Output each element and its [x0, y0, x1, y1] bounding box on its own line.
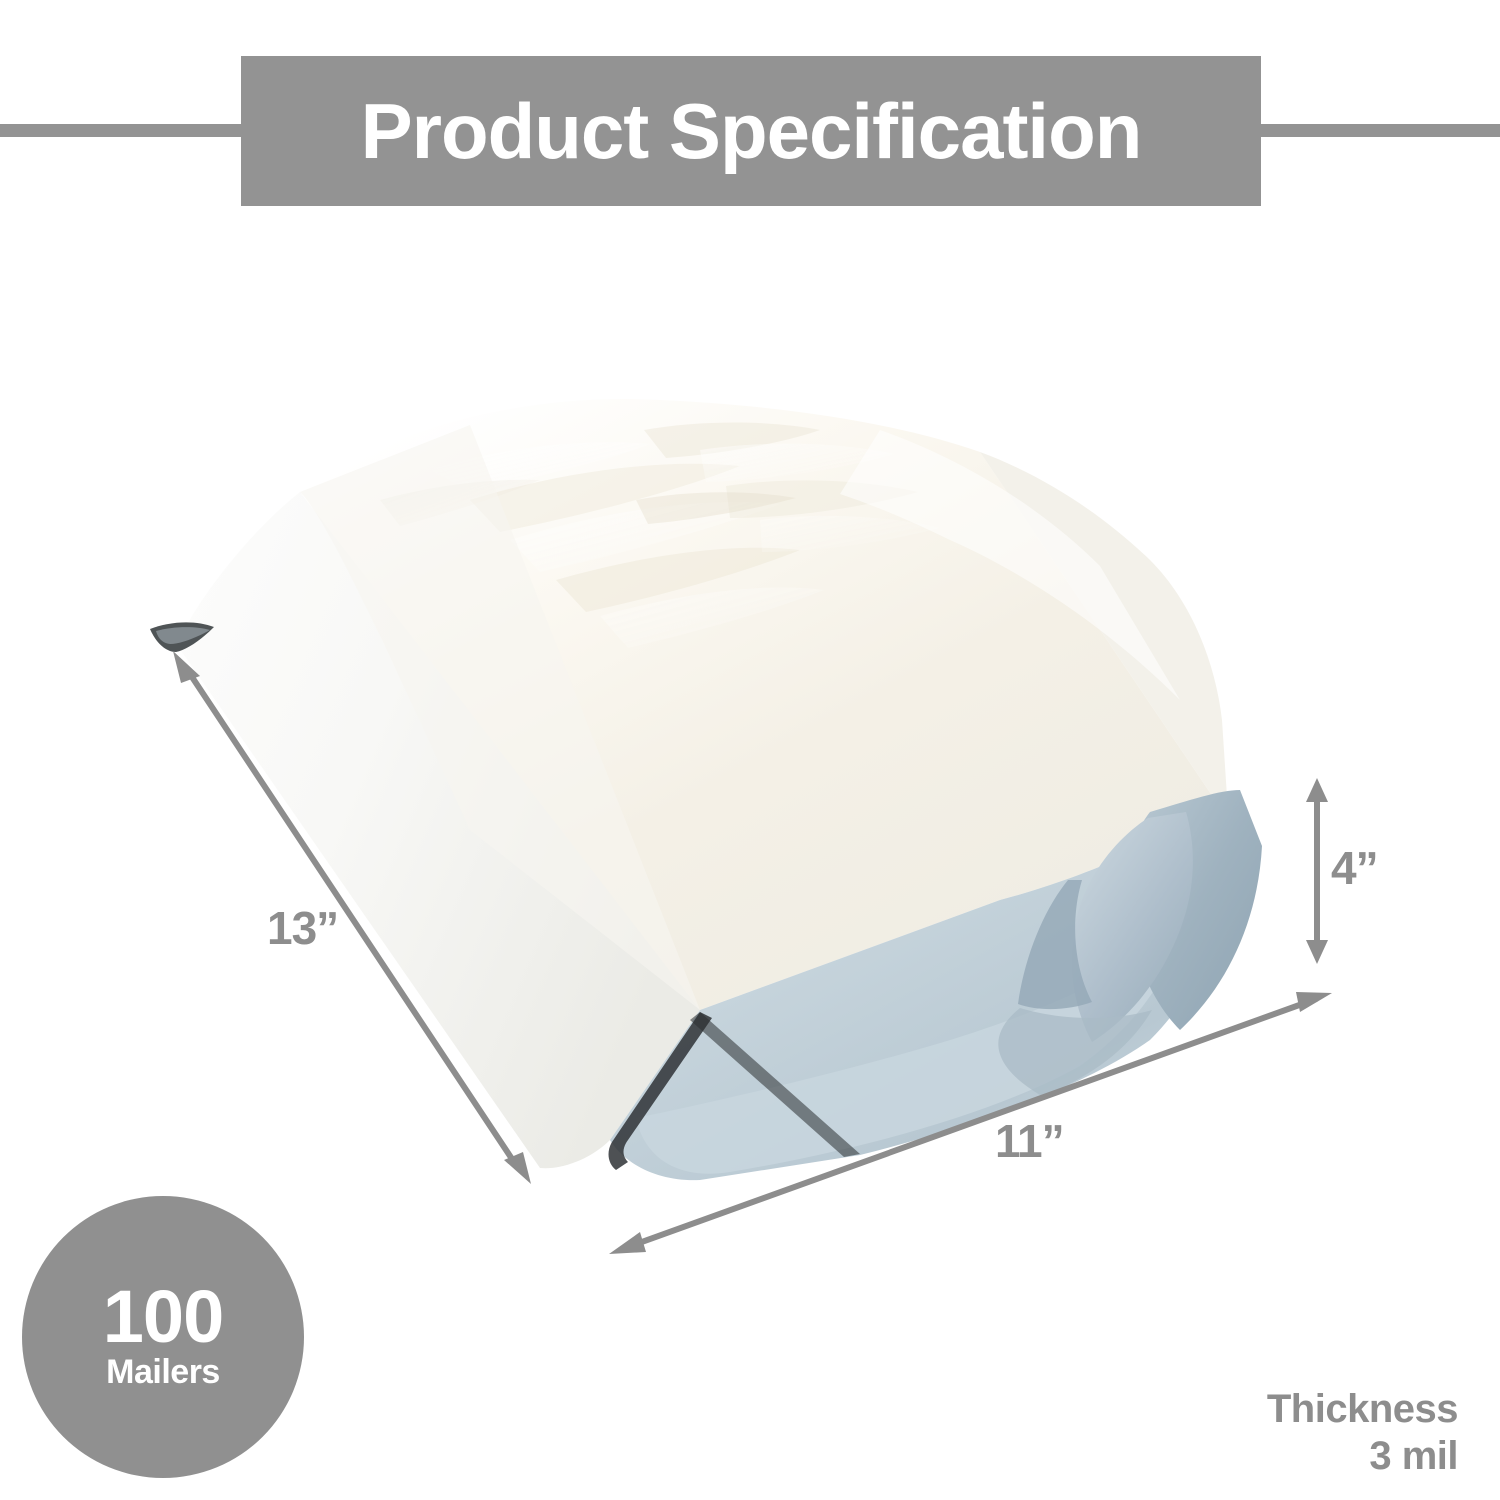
quantity-count: 100 — [103, 1282, 223, 1352]
dimension-label-width: 11” — [995, 1118, 1064, 1164]
dimension-arrowhead-4-bottom — [1306, 940, 1328, 964]
quantity-badge: 100 Mailers — [22, 1196, 304, 1478]
product-specification-page: Product Specification — [0, 0, 1500, 1500]
dimension-label-depth: 4” — [1331, 845, 1378, 891]
dimension-arrowhead-11-right — [1296, 992, 1332, 1012]
thickness-label: Thickness — [1267, 1386, 1458, 1433]
dimension-arrowhead-4-top — [1306, 778, 1328, 802]
thickness-value: 3 mil — [1267, 1433, 1458, 1480]
dimension-arrowhead-11-left — [609, 1232, 646, 1254]
dimension-label-length: 13” — [267, 905, 338, 951]
thickness-note: Thickness 3 mil — [1267, 1386, 1458, 1480]
quantity-unit: Mailers — [106, 1354, 220, 1391]
